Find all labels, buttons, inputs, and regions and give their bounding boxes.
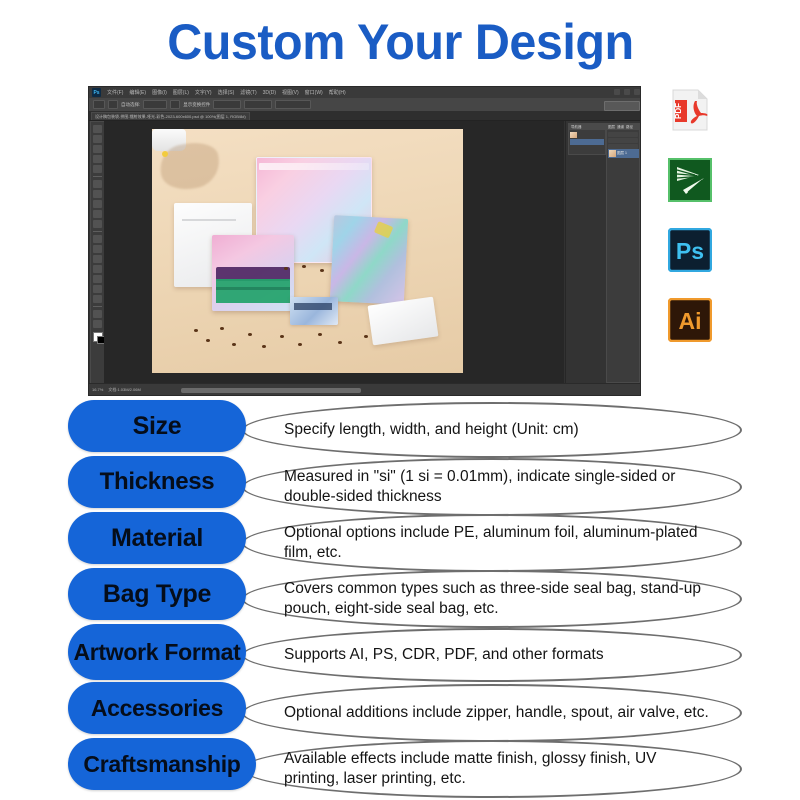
document-tab[interactable]: 设计稿包装袋-拼图-镭射效果-哑光-彩色-2023-600x600.psd @ … [91,112,250,120]
canvas-area[interactable] [104,121,564,383]
tab-paths[interactable]: 路径 [626,125,633,130]
coffee-bean [280,335,284,338]
spec-row-artwork-format[interactable]: Supports AI, PS, CDR, PDF, and other for… [62,624,738,682]
spec-label: Thickness [100,469,215,494]
navigator-panel-title: 导航器 [569,124,607,130]
white-bag-right [368,297,439,346]
tools-panel[interactable] [90,121,105,388]
spec-description: Available effects include matte finish, … [244,749,740,789]
photoshop-window-screenshot: Ps 文件(F) 编辑(E) 图像(I) 图层(L) 文字(Y) 选择(S) 滤… [88,86,641,396]
hand-tool-icon[interactable] [93,310,102,318]
yellow-accent-decoration [162,151,168,157]
menu-item-file[interactable]: 文件(F) [107,89,123,96]
auto-select-label: 自动选择: [121,102,140,108]
type-tool-icon[interactable] [93,275,102,283]
close-icon[interactable] [634,89,640,95]
pen-tool-icon[interactable] [93,265,102,273]
spec-label: Accessories [91,696,223,720]
brush-tool-icon[interactable] [93,200,102,208]
auto-select-dropdown[interactable] [143,100,167,109]
spec-label-pill-thickness[interactable]: Thickness [68,456,246,508]
dodge-tool-icon[interactable] [93,255,102,263]
quick-select-tool-icon[interactable] [93,155,102,163]
tool-divider [93,306,102,307]
coffee-bean [338,341,342,344]
layer-name: 图层 1 [617,151,627,156]
right-panels[interactable]: 导航器 图层 通道 路径 图层 1 [565,121,640,383]
path-select-tool-icon[interactable] [93,285,102,293]
extra-tools-group[interactable] [275,100,311,109]
eyedropper-tool-icon[interactable] [93,180,102,188]
layers-panel-tabs[interactable]: 图层 通道 路径 [607,124,640,130]
move-tool-icon[interactable] [93,100,105,109]
document-tab-bar: 设计稿包装袋-拼图-镭射效果-哑光-彩色-2023-600x600.psd @ … [89,111,640,121]
spec-label: Bag Type [103,581,211,607]
illustrator-icon: Ai [668,298,712,342]
spec-description: Measured in "si" (1 si = 0.01mm), indica… [244,467,740,507]
coffee-bean [284,267,288,270]
menu-item-view[interactable]: 视图(V) [282,89,299,96]
coffee-bean [232,343,236,346]
photoshop-logo-icon: Ps [92,88,101,97]
coffee-bean [262,345,266,348]
navigator-panel[interactable]: 导航器 [568,123,606,155]
svg-text:Ps: Ps [676,238,704,264]
editor-options-bar: 自动选择: 显示变换控件 [89,98,641,112]
layer-thumbnail [609,150,616,157]
three-d-mode-button[interactable] [604,101,640,111]
menu-item-select[interactable]: 选择(S) [218,89,235,96]
navigator-layer-row[interactable] [570,131,604,138]
spec-label-pill-craftsmanship[interactable]: Craftsmanship [68,738,256,790]
page-title: Custom Your Design [167,17,633,67]
spec-label-pill-material[interactable]: Material [68,512,246,564]
shape-tool-icon[interactable] [93,295,102,303]
coffee-bean [318,333,322,336]
spec-label-pill-bag-type[interactable]: Bag Type [68,568,246,620]
spec-description: Optional additions include zipper, handl… [244,703,735,723]
status-bar: 16.7% 文档:1.03M/2.06M [89,383,641,395]
spec-description: Supports AI, PS, CDR, PDF, and other for… [244,645,630,665]
tab-layers[interactable]: 图层 [608,125,615,130]
clone-stamp-tool-icon[interactable] [93,210,102,218]
spec-description: Specify length, width, and height (Unit:… [244,420,605,440]
tab-channels[interactable]: 通道 [617,125,624,130]
document-size: 文档:1.03M/2.06M [108,387,140,393]
healing-brush-tool-icon[interactable] [93,190,102,198]
show-transform-label: 显示变换控件 [183,102,210,108]
spec-row-material[interactable]: Optional options include PE, aluminum fo… [62,512,738,568]
spec-row-thickness[interactable]: Measured in "si" (1 si = 0.01mm), indica… [62,456,738,512]
spec-label: Size [133,413,182,439]
align-tools-group[interactable] [213,100,241,109]
tool-divider [93,231,102,232]
navigator-selected-row[interactable] [570,139,604,145]
move-tool-icon[interactable] [93,125,102,133]
spec-label: Material [111,525,203,551]
spec-description-bubble: Optional options include PE, aluminum fo… [242,514,742,572]
menu-item-type[interactable]: 文字(Y) [195,89,212,96]
spec-description-bubble: Supports AI, PS, CDR, PDF, and other for… [242,628,742,682]
spec-row-craftsmanship[interactable]: Available effects include matte finish, … [62,738,738,794]
spec-label-pill-artwork-format[interactable]: Artwork Format [68,624,246,680]
menu-item-3d[interactable]: 3D(D) [263,90,276,96]
zoom-tool-icon[interactable] [93,320,102,328]
foreground-color-swatch[interactable] [93,332,103,342]
spec-description: Covers common types such as three-side s… [244,579,740,619]
blur-tool-icon[interactable] [93,245,102,253]
coffee-bean [194,329,198,332]
maximize-icon[interactable] [624,89,630,95]
lasso-tool-icon[interactable] [93,145,102,153]
window-controls[interactable] [614,89,640,95]
title-banner: Custom Your Design [0,8,800,76]
layer-thumbnail [570,132,577,138]
spec-row-accessories[interactable]: Optional additions include zipper, handl… [62,682,738,738]
menu-item-layer[interactable]: 图层(L) [173,89,189,96]
svg-text:Ai: Ai [679,308,702,334]
coffee-bean [220,327,224,330]
coffee-bean [320,269,324,272]
distribute-tools-group[interactable] [244,100,272,109]
auto-select-checkbox[interactable] [108,100,118,109]
eraser-tool-icon[interactable] [93,220,102,228]
pink-bag-with-contents [212,235,294,311]
spec-row-bag-type[interactable]: Covers common types such as three-side s… [62,568,738,624]
green-contents [216,279,290,303]
crop-tool-icon[interactable] [93,165,102,173]
pdf-icon: PDF [668,88,712,132]
coffee-bean [248,333,252,336]
tool-divider [93,176,102,177]
svg-text:PDF: PDF [674,103,683,119]
layers-panel[interactable]: 图层 通道 路径 图层 1 [606,123,640,383]
small-clear-bag [290,297,338,325]
supported-formats-icon-column: PDF Ps Ai [664,88,716,388]
document-canvas[interactable] [152,129,463,373]
spec-description-bubble: Specify length, width, and height (Unit:… [242,402,742,458]
spec-description-bubble: Available effects include matte finish, … [242,740,742,798]
menu-item-filter[interactable]: 滤镜(T) [240,89,256,96]
spec-label: Craftsmanship [83,752,240,776]
menu-item-image[interactable]: 图像(I) [152,89,167,96]
photoshop-icon: Ps [668,228,712,272]
spec-label-pill-size[interactable]: Size [68,400,246,452]
coffee-bean [302,265,306,268]
coffee-bean [298,343,302,346]
coffee-bean [206,339,210,342]
spec-description-bubble: Measured in "si" (1 si = 0.01mm), indica… [242,458,742,516]
spec-description-bubble: Optional additions include zipper, handl… [242,684,742,742]
coreldraw-icon [668,158,712,202]
minimize-icon[interactable] [614,89,620,95]
menu-item-help[interactable]: 帮助(H) [329,89,346,96]
blend-mode-row[interactable] [608,132,638,137]
horizontal-scrollbar[interactable] [181,388,361,393]
spec-description: Optional options include PE, aluminum fo… [244,523,740,563]
silver-holographic-bag [330,215,408,305]
menu-item-edit[interactable]: 编辑(E) [129,89,146,96]
marquee-tool-icon[interactable] [93,135,102,143]
show-transform-checkbox[interactable] [170,100,180,109]
menu-item-window[interactable]: 窗口(W) [305,89,323,96]
spec-row-size[interactable]: Specify length, width, and height (Unit:… [62,400,738,456]
spec-description-bubble: Covers common types such as three-side s… [242,570,742,628]
zoom-level[interactable]: 16.7% [92,387,103,392]
layer-row-selected[interactable]: 图层 1 [608,149,639,158]
coffee-bean [364,335,368,338]
spec-label-pill-accessories[interactable]: Accessories [68,682,246,734]
gradient-tool-icon[interactable] [93,235,102,243]
opacity-row[interactable] [608,138,638,143]
spec-label: Artwork Format [73,640,240,664]
specification-list: Specify length, width, and height (Unit:… [62,400,738,798]
